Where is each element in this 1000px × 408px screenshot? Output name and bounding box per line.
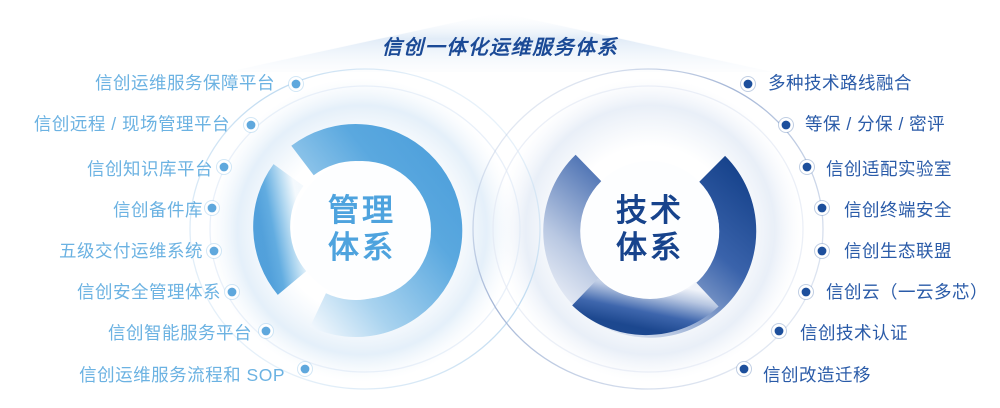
right-item-dot-5[interactable] (815, 244, 830, 259)
page-title: 信创一体化运维服务体系 (0, 31, 1000, 60)
left-item-dot-5[interactable] (207, 244, 222, 259)
right-item-label-6[interactable]: 信创云（一云多芯） (826, 284, 988, 302)
left-item-dot-6[interactable] (225, 285, 240, 300)
right-item-label-3[interactable]: 信创适配实验室 (826, 161, 952, 179)
right-item-label-5[interactable]: 信创生态联盟 (844, 243, 952, 261)
right-item-label-1[interactable]: 多种技术路线融合 (768, 75, 912, 93)
right-item-label-2[interactable]: 等保 / 分保 / 密评 (805, 116, 945, 134)
left-item-dot-3[interactable] (217, 160, 232, 175)
right-item-label-8[interactable]: 信创改造迁移 (763, 367, 871, 385)
right-item-dot-6[interactable] (799, 285, 814, 300)
right-ring-center-line1: 技术 (580, 193, 720, 230)
infographic-canvas: 信创一体化运维服务体系 管理 体系 技术 体系 信创运维服务保障平台信创远程 /… (0, 0, 1000, 408)
left-item-dot-7[interactable] (259, 324, 274, 339)
right-item-label-7[interactable]: 信创技术认证 (800, 325, 908, 343)
left-ring-center-label: 管理 体系 (292, 193, 432, 266)
left-ring-center-line1: 管理 (292, 193, 432, 230)
left-ring-center-line2: 体系 (292, 230, 432, 267)
left-item-label-8[interactable]: 信创运维服务流程和 SOP (79, 367, 285, 385)
left-item-dot-2[interactable] (244, 118, 259, 133)
left-item-label-6[interactable]: 信创安全管理体系 (77, 284, 221, 302)
right-item-dot-7[interactable] (772, 324, 787, 339)
right-item-dot-1[interactable] (741, 77, 756, 92)
left-item-label-2[interactable]: 信创远程 / 现场管理平台 (34, 116, 230, 134)
left-item-label-4[interactable]: 信创备件库 (113, 202, 203, 220)
right-item-dot-3[interactable] (800, 160, 815, 175)
right-ring-center-label: 技术 体系 (580, 193, 720, 266)
left-item-dot-1[interactable] (289, 77, 304, 92)
right-item-dot-2[interactable] (779, 118, 794, 133)
left-item-dot-4[interactable] (205, 201, 220, 216)
right-item-dot-4[interactable] (815, 201, 830, 216)
right-item-dot-8[interactable] (737, 362, 752, 377)
left-item-label-5[interactable]: 五级交付运维系统 (59, 243, 203, 261)
right-item-label-4[interactable]: 信创终端安全 (844, 202, 952, 220)
left-item-label-3[interactable]: 信创知识库平台 (87, 161, 213, 179)
right-ring-center-line2: 体系 (580, 230, 720, 267)
left-item-label-1[interactable]: 信创运维服务保障平台 (95, 75, 275, 93)
left-item-label-7[interactable]: 信创智能服务平台 (108, 325, 252, 343)
left-item-dot-8[interactable] (298, 362, 313, 377)
